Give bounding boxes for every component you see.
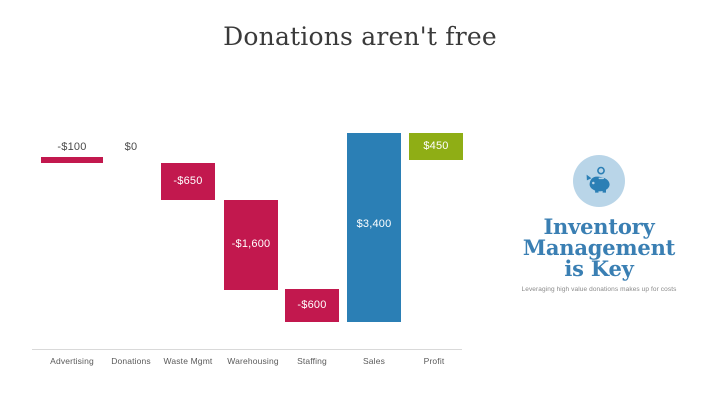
callout-heading-line-3: is Key — [492, 258, 706, 279]
chart-bar-value-label: $450 — [409, 140, 463, 152]
chart-bar[interactable]: $3,400 — [347, 133, 401, 322]
chart-bar-value-label: -$600 — [285, 299, 339, 311]
page-title: Donations aren't free — [0, 22, 720, 51]
piggy-bank-icon — [582, 164, 616, 198]
chart-plot-area: -$100$0-$650-$1,600-$600$3,400$450 — [32, 118, 470, 349]
callout-heading-line-1: Inventory — [492, 216, 706, 237]
chart-bar[interactable]: -$650 — [161, 163, 215, 200]
chart-bar-value-label: -$1,600 — [224, 238, 278, 250]
waterfall-chart: -$100$0-$650-$1,600-$600$3,400$450 Adver… — [32, 118, 470, 380]
callout-panel: Inventory Management is Key Leveraging h… — [492, 155, 706, 293]
callout-subtitle: Leveraging high value donations makes up… — [492, 286, 706, 293]
axis-tick-label: Profit — [406, 356, 462, 366]
chart-category-axis: AdvertisingDonationsWaste MgmtWarehousin… — [32, 356, 470, 376]
callout-heading: Inventory Management is Key — [492, 216, 706, 279]
chart-bar[interactable]: -$1,600 — [224, 200, 278, 290]
chart-axis-line — [32, 349, 462, 350]
slide-canvas: Donations aren't free -$100$0-$650-$1,60… — [0, 0, 720, 405]
chart-bar[interactable]: -$100 — [41, 157, 103, 163]
piggy-bank-badge — [573, 155, 625, 207]
chart-bar[interactable]: $450 — [409, 133, 463, 160]
callout-heading-line-2: Management — [492, 237, 706, 258]
axis-tick-label: Waste Mgmt — [153, 356, 223, 366]
chart-bar-value-label: -$650 — [161, 175, 215, 187]
axis-tick-label: Staffing — [281, 356, 343, 366]
chart-bar-value-label: $0 — [104, 141, 158, 153]
chart-bar[interactable]: -$600 — [285, 289, 339, 322]
chart-bar-value-label: -$100 — [41, 141, 103, 153]
chart-bar-value-label: $3,400 — [347, 218, 401, 230]
axis-tick-label: Sales — [345, 356, 403, 366]
